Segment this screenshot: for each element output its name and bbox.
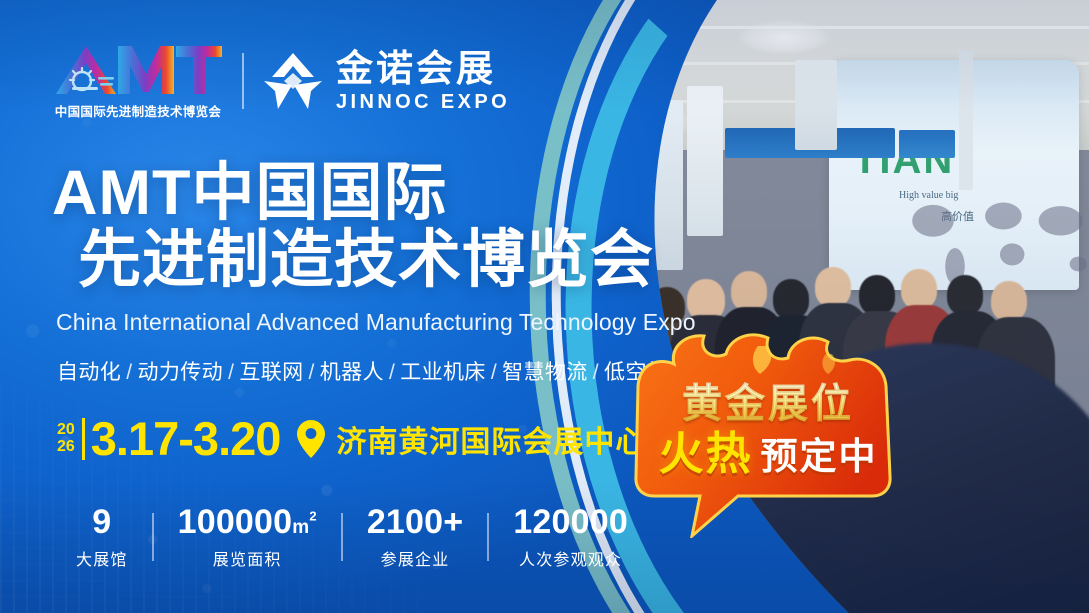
jinnoc-name-en: JINNOC EXPO [336, 92, 510, 112]
keyword-item: 机器人 [320, 361, 384, 384]
stat-value: 100000m2 [178, 505, 317, 541]
keyword-item: 互联网 [239, 361, 303, 384]
keyword-item: 工业机床 [400, 361, 486, 384]
jinnoc-star-icon [262, 51, 324, 111]
keyword-separator: / [491, 361, 497, 384]
headline-block: AMT中国国际 先进制造技术博览会 [52, 160, 654, 294]
keyword-separator: / [593, 361, 599, 384]
keyword-item: 自动化 [57, 361, 121, 384]
stat-unit-superscript: 2 [309, 509, 316, 524]
logo-row: 中国国际先进制造技术博览会 金诺会展 JINNOC EXPO [52, 44, 510, 118]
jinnoc-name-cn: 金诺会展 [336, 50, 510, 87]
headline-line-2: 先进制造技术博览会 [78, 227, 654, 294]
stat-unit: m [292, 517, 309, 538]
amt-mountain-gear-icon [52, 44, 224, 96]
stat-value: 120000 [513, 505, 628, 541]
event-date-venue-row: 20 26 3.17-3.20 济南黄河国际会展中心 [57, 415, 646, 462]
keyword-item: 智慧物流 [502, 361, 588, 384]
stat-value: 9 [76, 505, 128, 541]
keyword-list: 自动化/动力传动/互联网/机器人/工业机床/智慧物流/低空经济 [57, 356, 690, 386]
keyword-separator: / [389, 361, 395, 384]
badge-highlight: 火热 [658, 428, 752, 479]
badge-line-2: 预定中 [761, 436, 878, 477]
stat-label: 参展企业 [367, 546, 464, 570]
event-year: 20 26 [57, 418, 85, 460]
stat-label: 人次参观观众 [513, 546, 628, 570]
map-pin-icon [296, 419, 326, 459]
event-date-range: 3.17-3.20 [91, 415, 281, 462]
event-year-bottom: 26 [57, 439, 75, 455]
logo-divider [242, 53, 244, 109]
amt-logo-caption: 中国国际先进制造技术博览会 [52, 101, 224, 120]
keyword-item: 动力传动 [137, 361, 223, 384]
stat-value: 2100+ [367, 505, 464, 541]
stat-item: 2100+参展企业 [343, 505, 488, 570]
headline-subtitle-en: China International Advanced Manufacturi… [56, 309, 696, 336]
stat-item: 100000m2展览面积 [154, 505, 341, 570]
gold-booth-badge[interactable]: 黄金展位 火热预定中 [618, 328, 918, 538]
keyword-separator: / [228, 361, 234, 384]
headline-line-1: AMT中国国际 [52, 160, 654, 227]
event-venue: 济南黄河国际会展中心 [336, 417, 646, 461]
stats-row: 9大展馆100000m2展览面积2100+参展企业120000人次参观观众 [52, 505, 652, 570]
stat-item: 9大展馆 [52, 505, 152, 570]
promotional-banner: TIAN High value big 高价值 [0, 0, 1089, 613]
amt-logo[interactable]: 中国国际先进制造技术博览会 [52, 44, 224, 118]
event-year-top: 20 [57, 422, 75, 438]
badge-line-1: 黄金展位 [618, 382, 918, 426]
stat-label: 大展馆 [76, 546, 128, 570]
jinnoc-logo[interactable]: 金诺会展 JINNOC EXPO [262, 50, 510, 112]
stat-label: 展览面积 [178, 546, 317, 570]
keyword-separator: / [309, 361, 315, 384]
keyword-separator: / [126, 361, 132, 384]
